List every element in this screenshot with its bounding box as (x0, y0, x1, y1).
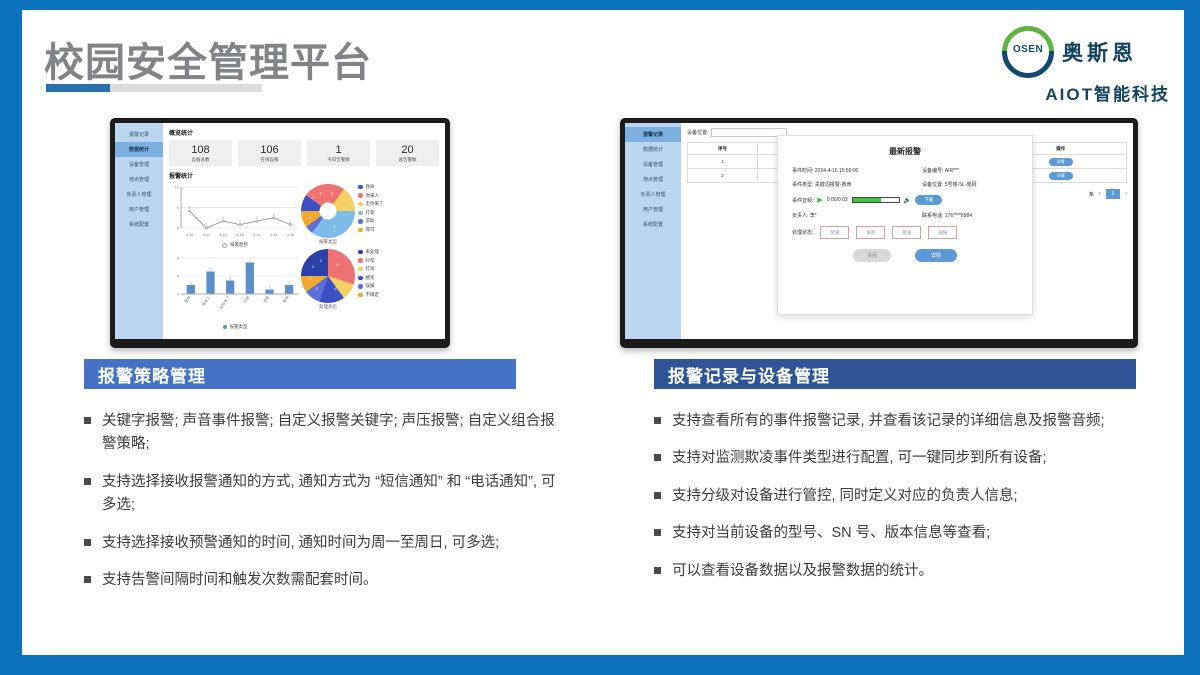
device-no-label: 设备编号: (922, 168, 943, 174)
legend-color-dot-icon (358, 258, 363, 263)
legend-label: 不确定 (366, 292, 380, 298)
legend-color-dot-icon (358, 228, 363, 233)
svg-text:打架: 打架 (242, 295, 251, 304)
alarm-type-bar-chart: 0482救命5有来人3走你来了7打架1求助2辱骂 (169, 254, 301, 314)
svg-text:4-14: 4-14 (253, 233, 261, 237)
pie-slice-value: 5 (343, 205, 345, 210)
th-index: 序号 (688, 143, 758, 155)
legend-color-dot-icon (358, 202, 363, 207)
brand-logo: OSEN 奥斯恩 AIOT智能科技 (1002, 26, 1170, 96)
bullet-item: 可以查看设备数据以及报警数据的统计。 (654, 560, 1154, 583)
bullet-square-icon (84, 539, 91, 546)
legend-label: 走你来了 (366, 201, 384, 207)
pie-slice-value: 2 (316, 286, 318, 291)
right-app-content: 设备位置: 序号 设备编号 状态 操作 1 (681, 123, 1133, 339)
legend-label: 救命 (366, 184, 375, 190)
owner-label: 负责人: (792, 213, 808, 219)
left-dashboard-screenshot: 报警记录 数据统计 设备管理 地点管理 负责人管理 用户管理 系统配置 概览统计… (110, 118, 450, 348)
svg-text:1: 1 (239, 220, 241, 224)
bullet-square-icon (654, 492, 661, 499)
svg-text:4-16: 4-16 (287, 233, 295, 237)
pie-slice-value: 2 (312, 264, 314, 269)
bullet-text: 支持分级对设备进行管控, 同时定义对应的负责人信息; (672, 485, 1018, 508)
modal-row-owner: 负责人: 李* 联系电话: 176****6984 (792, 212, 1018, 219)
sidebar-item-data-stats[interactable]: 数据统计 (115, 142, 163, 157)
legend-label: 辱骂 (366, 227, 375, 233)
status-label: 处理状态: (792, 229, 813, 236)
pie-slice-value: 6 (334, 286, 336, 291)
legend-color-dot-icon (358, 219, 363, 224)
bullet-item: 支持选择接收报警通知的方式, 通知方式为 “短信通知” 和 “电话通知”, 可多… (84, 471, 564, 518)
svg-text:0: 0 (177, 292, 180, 297)
phone-label: 联系电话: (922, 213, 943, 219)
legend-label: 你来人 (366, 193, 380, 199)
bullet-text: 支持对监测欺凌事件类型进行配置, 可一键同步到所有设备; (672, 447, 1047, 470)
modal-title: 最新报警 (792, 146, 1018, 157)
pie-slice-value: 5 (336, 262, 338, 267)
legend-color-dot-icon (358, 211, 363, 216)
sidebar-item-data-stats[interactable]: 数据统计 (625, 142, 681, 157)
pie-2-legend: 未处理吵架打闹嬉笑误报不确定 (358, 249, 379, 301)
bullet-square-icon (654, 417, 661, 424)
right-section-banner: 报警记录与设备管理 (654, 359, 1136, 389)
left-app-sidebar[interactable]: 报警记录 数据统计 设备管理 地点管理 负责人管理 用户管理 系统配置 (115, 123, 163, 339)
legend-item: 辱骂 (358, 227, 384, 233)
overview-section-title: 概览统计 (169, 128, 439, 137)
sidebar-item-user-mgmt[interactable]: 用户管理 (115, 202, 163, 217)
svg-text:8: 8 (177, 256, 180, 261)
charts-area: 061254-1004-1124-1214-1324-1434-1514-16 … (169, 184, 439, 330)
svg-text:2: 2 (256, 216, 258, 220)
latest-alarm-modal: 最新报警 事件时间: 2024-4-16 15:59:00 设备编号: AIR*… (777, 135, 1033, 315)
legend-item: 你来人 (358, 193, 384, 199)
svg-text:4-12: 4-12 (219, 233, 227, 237)
logo-osen-text: OSEN (1002, 44, 1054, 55)
pie-slice-value: 2 (320, 258, 322, 263)
audio-label: 事件音频: (792, 197, 813, 204)
sidebar-item-location-mgmt[interactable]: 地点管理 (625, 172, 681, 187)
bar-chart-svg: 0482救命5有来人3走你来了7打架1求助2辱骂 (169, 254, 301, 314)
bullet-item: 关键字报警; 声音事件报警; 自定义报警关键字; 声压报警; 自定义组合报警策略… (84, 410, 564, 457)
sidebar-item-system-config[interactable]: 系统配置 (625, 217, 681, 232)
bullet-text: 关键字报警; 声音事件报警; 自定义报警关键字; 声压报警; 自定义组合报警策略… (102, 410, 564, 457)
modal-row-time: 事件时间: 2024-4-16 15:59:00 设备编号: AIR*** (792, 167, 1018, 174)
page-title: 校园安全管理平台 (44, 30, 372, 88)
modal-close-button[interactable]: 关闭 (853, 249, 891, 262)
svg-text:1: 1 (269, 285, 271, 289)
legend-ring-icon (222, 243, 227, 248)
device-location-input[interactable] (711, 128, 787, 137)
stat-value: 20 (376, 144, 439, 156)
cell-index: 1 (688, 155, 758, 169)
svg-text:6: 6 (177, 205, 180, 210)
sidebar-item-alarm-records[interactable]: 报警记录 (625, 127, 681, 142)
pagination-page-1[interactable]: 1 (1106, 189, 1121, 199)
status-option-bullying[interactable]: 欺凌 (892, 226, 921, 239)
status-option-play[interactable]: 玩闹 (820, 226, 849, 239)
stat-card-row: 108 设备总数 106 在线设备 1 今日告警数 20 总告警数 (169, 140, 439, 166)
event-time-value: 2024-4-16 15:59:00 (815, 168, 859, 174)
download-button[interactable]: 下载 (915, 195, 942, 205)
line-chart-legend: 报警趋势 (169, 242, 301, 248)
stat-value: 108 (169, 144, 232, 156)
pie-slice-value: 3 (309, 276, 311, 281)
stat-label: 总告警数 (376, 157, 439, 163)
stat-label: 今日告警数 (307, 157, 370, 163)
stat-card: 1 今日告警数 (307, 140, 370, 166)
sidebar-item-owner-mgmt[interactable]: 负责人管理 (625, 187, 681, 202)
donut-1-caption: 报警类型 (301, 239, 355, 245)
bullet-square-icon (654, 567, 661, 574)
legend-item: 不确定 (358, 292, 379, 298)
alarm-trend-line-chart: 061254-1004-1124-1214-1324-1434-1514-16 (169, 184, 301, 240)
slide-canvas: 校园安全管理平台 OSEN 奥斯恩 AIOT智能科技 报警记录 数据统计 设备管… (22, 10, 1184, 655)
left-section-banner: 报警策略管理 (84, 359, 516, 389)
bullet-item: 支持查看所有的事件报警记录, 并查看该记录的详细信息及报警音频; (654, 410, 1154, 433)
legend-item: 吵架 (358, 258, 379, 264)
bullet-square-icon (84, 478, 91, 485)
audio-timecode: 0:00/0:03 (827, 197, 848, 203)
legend-color-dot-icon (358, 193, 363, 198)
pie-2-caption: 处理状态 (301, 304, 355, 310)
sidebar-item-owner-mgmt[interactable]: 负责人管理 (115, 187, 163, 202)
svg-text:0: 0 (177, 226, 180, 231)
logo-company-name: 奥斯恩 (1062, 37, 1137, 67)
svg-text:7: 7 (249, 258, 251, 262)
sidebar-item-system-config[interactable]: 系统配置 (115, 217, 163, 232)
bullet-text: 支持选择接收报警通知的方式, 通知方式为 “短信通知” 和 “电话通知”, 可多… (102, 471, 564, 518)
right-app-sidebar[interactable]: 报警记录 数据统计 设备管理 地点管理 负责人管理 用户管理 系统配置 (625, 123, 681, 339)
pie-slice-value: 7 (309, 216, 311, 221)
legend-label: 求助 (366, 218, 375, 224)
pagination-next[interactable]: › (1125, 191, 1127, 197)
sidebar-item-device-mgmt[interactable]: 设备管理 (625, 157, 681, 172)
left-bullet-list: 关键字报警; 声音事件报警; 自定义报警关键字; 声压报警; 自定义组合报警策略… (84, 410, 564, 607)
legend-label: 嬉笑 (366, 275, 375, 281)
legend-item: 走你来了 (358, 201, 384, 207)
modal-row-audio: 事件音频: ▶ 0:00/0:03 🔊 下载 (792, 195, 1018, 205)
donut-1-legend: 救命你来人走你来了打架求助辱骂 (358, 184, 384, 236)
device-no-value: AIR*** (945, 168, 959, 174)
modal-row-type: 事件类型: 关键词报警-救命 设备位置: 5号楼-5L-男厕 (792, 181, 1018, 188)
legend-item: 救命 (358, 184, 384, 190)
pie-slice-value: 3 (333, 224, 335, 229)
cell-index: 2 (688, 169, 758, 183)
legend-item: 未处理 (358, 249, 379, 255)
stat-card: 106 在线设备 (238, 140, 301, 166)
bullet-text: 支持对当前设备的型号、SN 号、版本信息等查看; (672, 522, 990, 545)
svg-text:走你来了: 走你来了 (218, 295, 231, 310)
legend-label: 误报 (366, 283, 375, 289)
svg-text:2: 2 (288, 281, 290, 285)
logo-subtitle: AIOT智能科技 (1002, 80, 1170, 105)
svg-text:3: 3 (229, 276, 231, 280)
bullet-item: 支持告警间隔时间和触发次数需配套时间。 (84, 569, 564, 592)
sidebar-item-device-mgmt[interactable]: 设备管理 (115, 157, 163, 172)
svg-text:3: 3 (273, 213, 275, 217)
stat-card: 20 总告警数 (376, 140, 439, 166)
modal-row-status: 处理状态: 玩闹 争吵 欺凌 误报 (792, 226, 1018, 239)
sidebar-item-alarm-records[interactable]: 报警记录 (115, 127, 163, 142)
svg-text:有来人: 有来人 (201, 295, 212, 307)
svg-text:求助: 求助 (262, 295, 271, 304)
pagination-prev[interactable]: ‹ (1099, 191, 1101, 197)
svg-text:1: 1 (290, 220, 292, 224)
alarm-stats-title: 报警统计 (169, 171, 439, 180)
svg-text:5: 5 (210, 267, 212, 271)
legend-label: 报警趋势 (230, 242, 248, 248)
bullet-item: 支持对当前设备的型号、SN 号、版本信息等查看; (654, 522, 1154, 545)
detail-button[interactable]: 详情 (1049, 158, 1073, 166)
svg-text:4: 4 (177, 274, 180, 279)
osen-ring-icon: OSEN (1002, 26, 1054, 78)
bullet-text: 支持查看所有的事件报警记录, 并查看该记录的详细信息及报警音频; (672, 410, 1105, 433)
legend-color-dot-icon (358, 250, 363, 255)
legend-item: 误报 (358, 283, 379, 289)
svg-text:辱骂: 辱骂 (282, 295, 291, 304)
legend-label: 打架 (366, 210, 375, 216)
right-dashboard-screenshot: 报警记录 数据统计 设备管理 地点管理 负责人管理 用户管理 系统配置 设备位置… (620, 118, 1138, 348)
title-underline (46, 84, 262, 92)
handling-status-pie-chart: 562322 (301, 249, 355, 303)
bullet-item: 支持分级对设备进行管控, 同时定义对应的负责人信息; (654, 485, 1154, 508)
legend-label: 未处理 (366, 249, 380, 255)
status-option-false-alarm[interactable]: 误报 (928, 226, 957, 239)
stat-label: 在线设备 (238, 157, 301, 163)
bullet-square-icon (654, 529, 661, 536)
svg-text:2: 2 (190, 281, 192, 285)
device-location-label: 设备位置: (922, 182, 943, 188)
bullet-item: 支持对监测欺凌事件类型进行配置, 可一键同步到所有设备; (654, 447, 1154, 470)
stat-label: 设备总数 (169, 157, 232, 163)
legend-label: 吵架 (366, 258, 375, 264)
svg-text:5: 5 (188, 206, 190, 210)
bullet-text: 可以查看设备数据以及报警数据的统计。 (672, 560, 933, 583)
svg-text:0: 0 (205, 223, 207, 227)
stat-card: 108 设备总数 (169, 140, 232, 166)
legend-label: 打闹 (366, 266, 375, 272)
bullet-item: 支持选择接收预警通知的时间, 通知时间为周一至周日, 可多选; (84, 532, 564, 555)
bullet-text: 支持告警间隔时间和触发次数需配套时间。 (102, 569, 378, 592)
svg-text:4-15: 4-15 (270, 233, 278, 237)
legend-color-dot-icon (358, 185, 363, 190)
title-underline-accent (46, 84, 110, 92)
pie-slice-value: 2 (331, 191, 333, 196)
bullet-square-icon (84, 417, 91, 424)
bullet-text: 支持选择接收预警通知的时间, 通知时间为周一至周日, 可多选; (102, 532, 499, 555)
legend-item: 求助 (358, 218, 384, 224)
legend-item: 打闹 (358, 266, 379, 272)
svg-text:2: 2 (222, 216, 224, 220)
svg-text:救命: 救命 (183, 295, 192, 304)
modal-actions: 关闭 详情 (792, 249, 1018, 262)
stat-value: 106 (238, 144, 301, 156)
legend-color-dot-icon (358, 276, 363, 281)
svg-text:12: 12 (175, 185, 180, 190)
alarm-type-donut-chart: 253712 (301, 184, 355, 238)
owner-value: 李* (810, 213, 817, 219)
legend-color-dot-icon (358, 293, 363, 298)
svg-text:4-11: 4-11 (203, 233, 210, 237)
filter-label: 设备位置: (687, 129, 708, 136)
play-icon[interactable]: ▶ (817, 196, 822, 204)
pie-slice-value: 1 (312, 195, 314, 200)
svg-text:4-13: 4-13 (236, 233, 244, 237)
legend-color-dot-icon (358, 284, 363, 289)
legend-dot-icon (223, 325, 227, 329)
legend-color-dot-icon (358, 267, 363, 272)
pie-slice-value: 2 (319, 191, 321, 196)
event-time-label: 事件时间: (792, 168, 813, 174)
svg-text:4-10: 4-10 (186, 233, 194, 237)
legend-item: 嬉笑 (358, 275, 379, 281)
volume-icon[interactable]: 🔊 (904, 197, 911, 204)
left-app-content: 概览统计 108 设备总数 106 在线设备 1 今日告警数 (163, 123, 445, 339)
sidebar-item-user-mgmt[interactable]: 用户管理 (625, 202, 681, 217)
line-chart-svg: 061254-1004-1124-1214-1324-1434-1514-16 (169, 184, 301, 240)
device-location-value: 5号楼-5L-男厕 (945, 182, 977, 188)
legend-label: 报警类型 (230, 324, 248, 330)
phone-value: 176****6984 (945, 213, 972, 219)
bar-chart-legend: 报警类型 (169, 324, 301, 330)
modal-detail-button[interactable]: 详情 (915, 249, 957, 262)
bullet-square-icon (654, 454, 661, 461)
pagination-suffix: 条 (1089, 191, 1094, 198)
stat-value: 1 (307, 144, 370, 156)
bullet-square-icon (84, 576, 91, 583)
sidebar-item-location-mgmt[interactable]: 地点管理 (115, 172, 163, 187)
right-bullet-list: 支持查看所有的事件报警记录, 并查看该记录的详细信息及报警音频;支持对监测欺凌事… (654, 410, 1154, 597)
legend-item: 打架 (358, 210, 384, 216)
audio-progress-bar[interactable] (852, 197, 900, 203)
status-option-quarrel[interactable]: 争吵 (856, 226, 885, 239)
detail-button[interactable]: 详情 (1049, 172, 1073, 180)
event-type-label: 事件类型: (792, 182, 813, 188)
event-type-value: 关键词报警-救命 (815, 182, 852, 188)
